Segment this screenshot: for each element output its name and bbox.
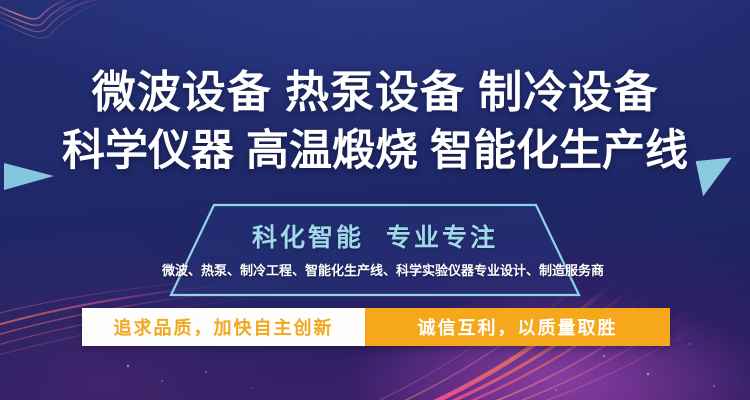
panel-subtitle: 微波、热泵、制冷工程、智能化生产线、科学实验仪器专业设计、制造服务商 — [162, 260, 588, 279]
panel-tagline-left: 科化智能 — [252, 224, 364, 252]
headline-line-1: 微波设备 热泵设备 制冷设备 — [0, 64, 750, 122]
headline-block: 微波设备 热泵设备 制冷设备 科学仪器 高温煅烧 智能化生产线 — [0, 64, 750, 180]
slogan-bar-right: 诚信互利，以质量取胜 — [365, 308, 670, 346]
panel-tagline: 科化智能专业专注 — [168, 218, 582, 254]
promotional-banner: 微波设备 热泵设备 制冷设备 科学仪器 高温煅烧 智能化生产线 科化智能专业专注… — [0, 0, 750, 400]
slogan-bar-group: 追求品质，加快自主创新 诚信互利，以质量取胜 — [82, 308, 670, 346]
slogan-bar-left: 追求品质，加快自主创新 — [82, 308, 365, 346]
headline-line-2: 科学仪器 高温煅烧 智能化生产线 — [0, 122, 750, 180]
panel-tagline-right: 专业专注 — [386, 224, 498, 252]
tagline-panel: 科化智能专业专注 微波、热泵、制冷工程、智能化生产线、科学实验仪器专业设计、制造… — [168, 202, 582, 298]
